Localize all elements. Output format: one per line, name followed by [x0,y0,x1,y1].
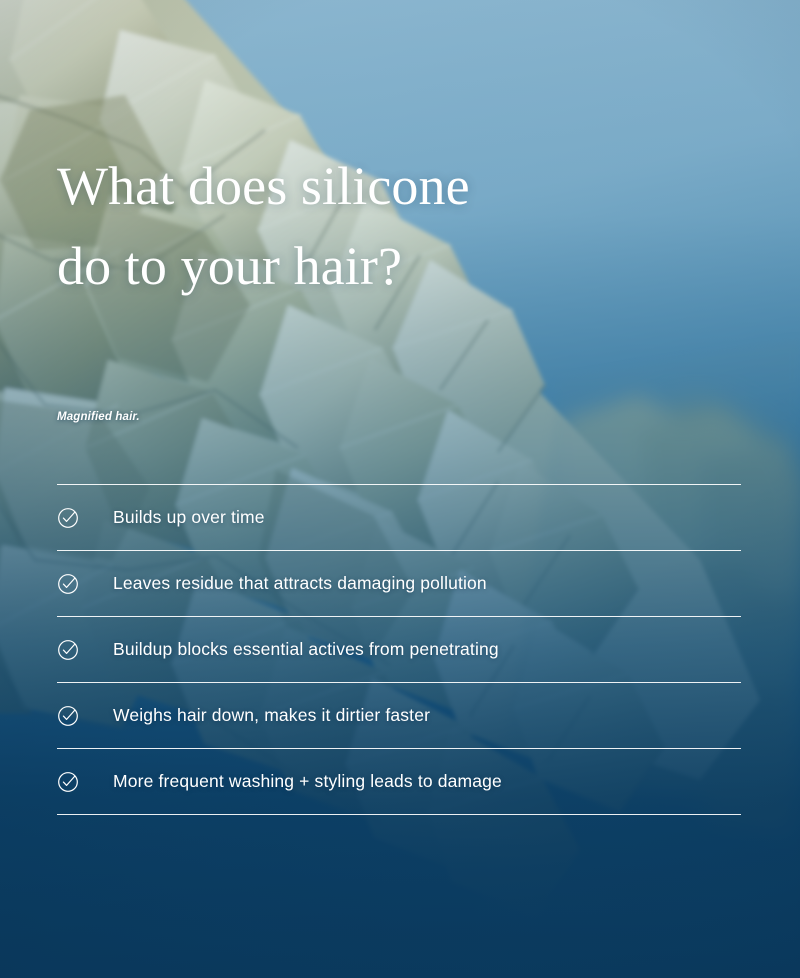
check-circle-icon [57,639,113,661]
list-item-label: Leaves residue that attracts damaging po… [113,573,487,594]
infographic-card: What does silicone do to your hair? Magn… [0,0,800,978]
list-item: Weighs hair down, makes it dirtier faste… [57,683,741,748]
effects-list: Builds up over time Leaves residue that … [57,484,741,815]
list-item: Builds up over time [57,485,741,550]
list-item-label: More frequent washing + styling leads to… [113,771,502,792]
list-item-label: Builds up over time [113,507,265,528]
list-divider [57,814,741,815]
check-circle-icon [57,705,113,727]
list-item: Buildup blocks essential actives from pe… [57,617,741,682]
check-circle-icon [57,771,113,793]
list-item: Leaves residue that attracts damaging po… [57,551,741,616]
list-item: More frequent washing + styling leads to… [57,749,741,814]
page-title: What does silicone do to your hair? [57,146,697,306]
list-item-label: Buildup blocks essential actives from pe… [113,639,499,660]
check-circle-icon [57,507,113,529]
image-caption: Magnified hair. [57,411,140,423]
check-circle-icon [57,573,113,595]
list-item-label: Weighs hair down, makes it dirtier faste… [113,705,430,726]
